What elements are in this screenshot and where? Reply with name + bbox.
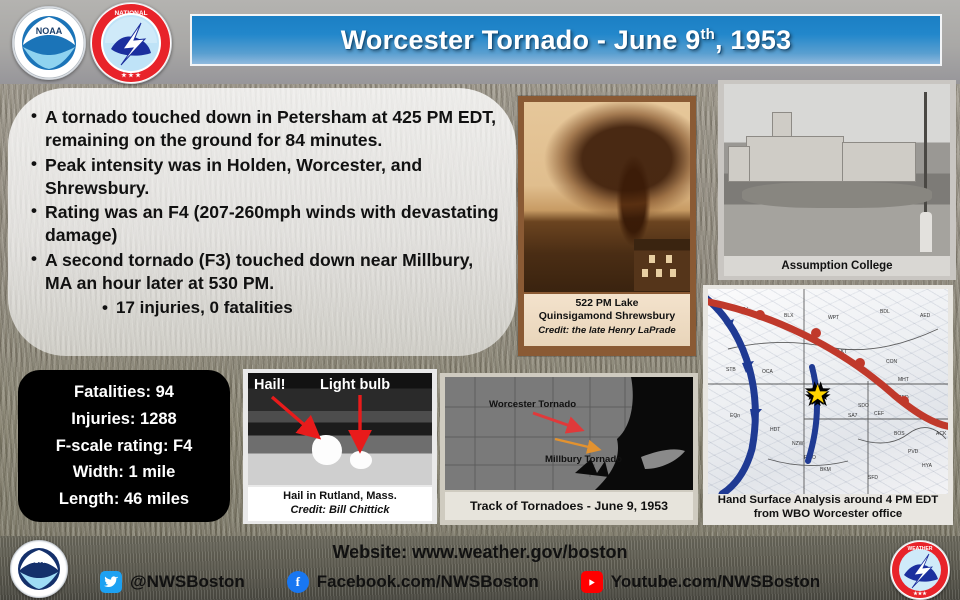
tornado-location-star: ★ — [806, 381, 829, 407]
stat-length: Length: 46 miles — [59, 486, 189, 513]
svg-text:HYA: HYA — [922, 463, 933, 469]
stat-fscale: F-scale rating: F4 — [56, 433, 193, 460]
svg-text:BDL: BDL — [880, 309, 890, 315]
assumption-college-caption: Assumption College — [724, 256, 950, 276]
facebook-link[interactable]: Facebook.com/NWSBoston — [317, 572, 539, 592]
svg-text:SFD: SFD — [868, 475, 878, 481]
hail-photo-card: Hail! Light bulb Hail in Rutland, Mass. … — [243, 369, 437, 524]
stat-width: Width: 1 mile — [73, 459, 176, 486]
youtube-icon[interactable] — [581, 571, 603, 593]
list-item: Peak intensity was in Holden, Worcester,… — [30, 154, 500, 200]
svg-text:PVD: PVD — [908, 449, 919, 455]
bullet-list-container: A tornado touched down in Petersham at 4… — [30, 106, 500, 319]
svg-text:HDT: HDT — [770, 427, 780, 433]
svg-text:AED: AED — [920, 313, 931, 319]
svg-text:★★★: ★★★ — [913, 591, 927, 597]
bullet-list: A tornado touched down in Petersham at 4… — [30, 106, 500, 295]
stat-injuries: Injuries: 1288 — [71, 406, 176, 433]
svg-text:WPT: WPT — [828, 315, 839, 321]
surface-analysis-image: BTVBLXWPT BDLAEDSTB OCALKTCON MHTEQnHDT … — [708, 289, 948, 494]
svg-text:BOS: BOS — [894, 431, 905, 437]
svg-text:NZW: NZW — [792, 441, 804, 447]
sub-bullet-casualties: 17 injuries, 0 fatalities — [30, 297, 500, 319]
debris-pile — [742, 182, 932, 208]
svg-text:MHT: MHT — [898, 377, 909, 383]
title-bar: Worcester Tornado - June 9th, 1953 — [190, 14, 942, 66]
surface-analysis-card: BTVBLXWPT BDLAEDSTB OCALKTCON MHTEQnHDT … — [703, 285, 953, 525]
svg-text:NATIONAL: NATIONAL — [114, 10, 147, 17]
tornado-funnel-photo — [524, 102, 690, 292]
page-title: Worcester Tornado - June 9th, 1953 — [341, 25, 792, 56]
tornado-photo-caption: 522 PM Lake Quinsigamond Shrewsbury Cred… — [524, 294, 690, 346]
svg-text:CON: CON — [886, 359, 898, 365]
track-map-image: Worcester Tornado Millbury Tornado — [445, 377, 693, 490]
assumption-college-card: Assumption College — [718, 80, 956, 280]
millbury-track-label: Millbury Tornado — [545, 454, 622, 465]
stat-fatalities: Fatalities: 94 — [74, 379, 174, 406]
footer-website[interactable]: Website: www.weather.gov/boston — [0, 542, 960, 563]
nws-logo-header: NATIONAL ★ ★ ★ — [90, 2, 172, 84]
svg-text:SDO: SDO — [858, 403, 869, 409]
svg-text:CEF: CEF — [874, 411, 884, 417]
track-map-card: Worcester Tornado Millbury Tornado Track… — [440, 373, 698, 525]
tornado-photo-card: 522 PM Lake Quinsigamond Shrewsbury Cred… — [518, 96, 696, 356]
stats-box: Fatalities: 94 Injuries: 1288 F-scale ra… — [18, 370, 230, 522]
svg-text:BKM: BKM — [820, 467, 831, 473]
svg-text:EQn: EQn — [730, 413, 740, 419]
house-silhouette — [634, 239, 690, 291]
svg-text:SA7: SA7 — [848, 413, 858, 419]
svg-text:BLX: BLX — [784, 313, 794, 319]
hail-photo-caption: Hail in Rutland, Mass. Credit: Bill Chit… — [248, 487, 432, 521]
person-figure — [920, 212, 932, 252]
assumption-college-photo — [724, 84, 950, 256]
hail-arrows — [248, 373, 432, 485]
svg-text:★ ★ ★: ★ ★ ★ — [121, 72, 141, 79]
list-item: A tornado touched down in Petersham at 4… — [30, 106, 500, 152]
surface-analysis-caption: Hand Surface Analysis around 4 PM EDT fr… — [708, 492, 948, 522]
list-item: Rating was an F4 (207-260mph winds with … — [30, 201, 500, 247]
svg-text:ACK: ACK — [936, 431, 947, 437]
massachusetts-outline — [445, 377, 693, 490]
svg-text:NOAA: NOAA — [36, 26, 63, 36]
youtube-link[interactable]: Youtube.com/NWSBoston — [611, 572, 820, 592]
svg-text:STB: STB — [726, 367, 736, 373]
noaa-logo-header: NOAA — [12, 6, 86, 80]
svg-text:OCA: OCA — [762, 369, 774, 375]
twitter-icon[interactable] — [100, 571, 122, 593]
hail-photo: Hail! Light bulb — [248, 373, 432, 485]
list-item: A second tornado (F3) touched down near … — [30, 249, 500, 295]
twitter-handle[interactable]: @NWSBoston — [130, 572, 245, 592]
facebook-icon[interactable]: f — [287, 571, 309, 593]
worcester-track-label: Worcester Tornado — [489, 399, 576, 410]
track-map-caption: Track of Tornadoes - June 9, 1953 — [445, 492, 693, 520]
footer-social-row: @NWSBoston f Facebook.com/NWSBoston Yout… — [100, 570, 890, 594]
infographic-canvas: NOAA NATIONAL ★ ★ ★ Worcester Tornado - … — [0, 0, 960, 600]
